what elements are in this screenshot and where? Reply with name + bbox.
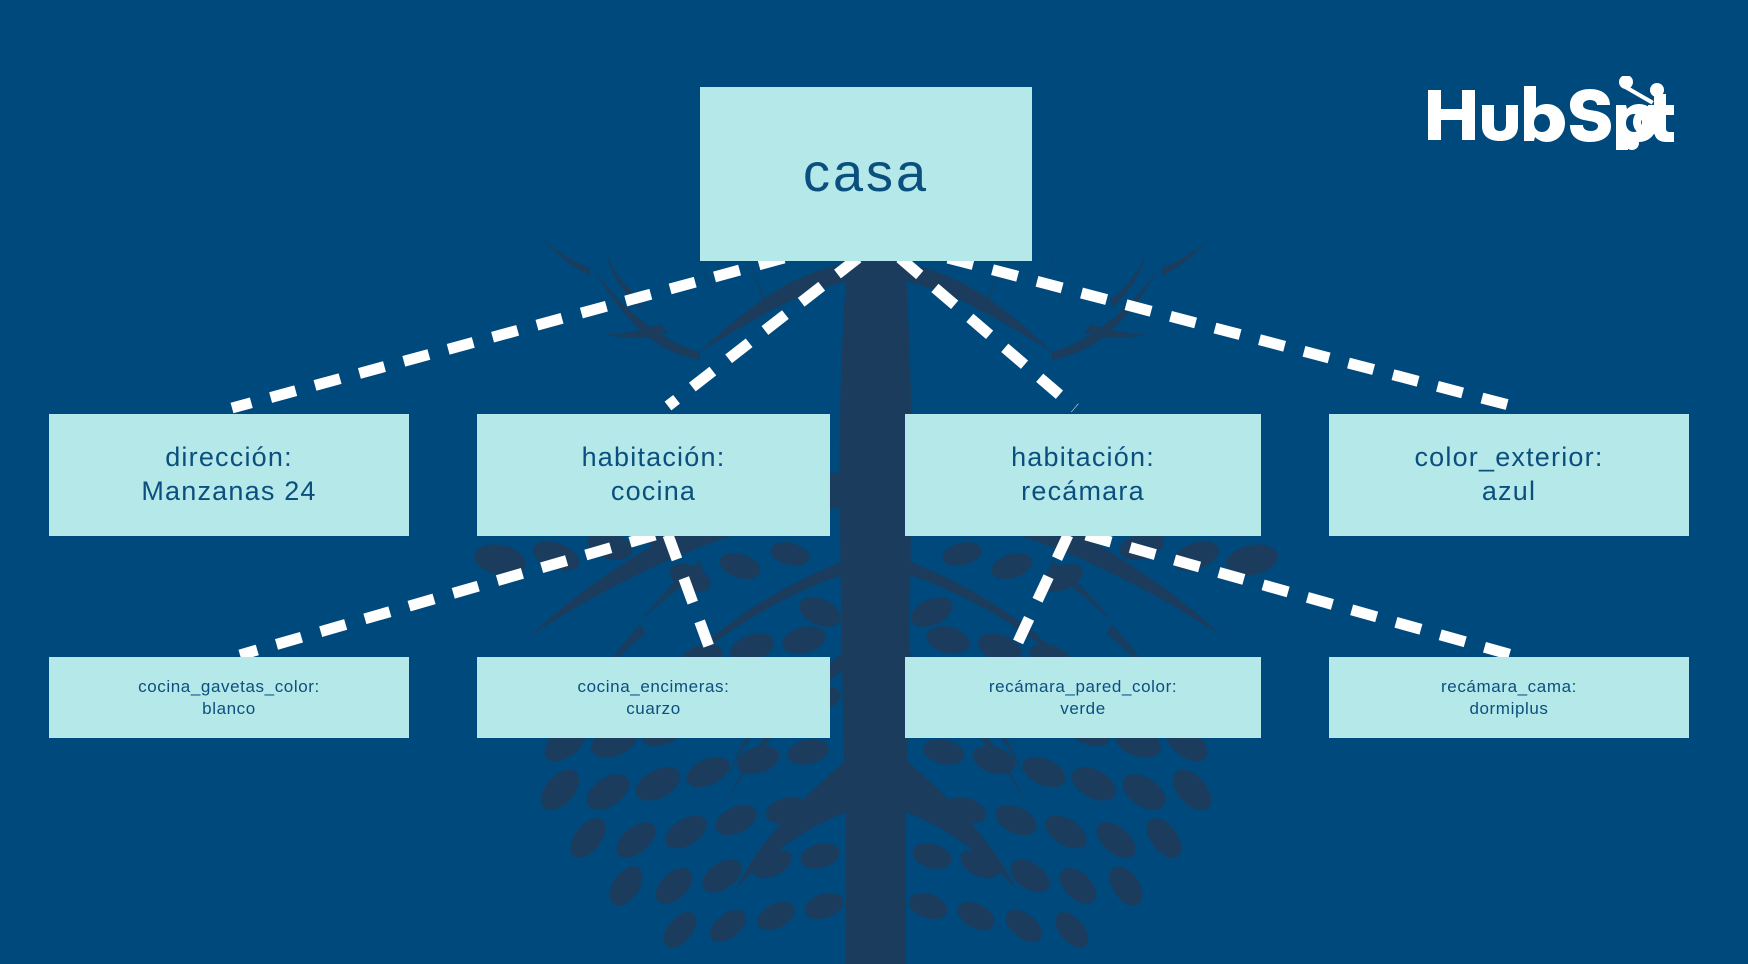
node-recamara-cama-line2: dormiplus <box>1469 698 1548 719</box>
edge-casa-color-exterior <box>948 258 1520 408</box>
node-direccion-line2: Manzanas 24 <box>141 475 316 509</box>
edge-recamara-cama <box>1086 535 1512 655</box>
node-habitacion-cocina-line2: cocina <box>611 475 696 509</box>
node-cocina-gavetas-color[interactable]: cocina_gavetas_color: blanco <box>49 657 409 738</box>
diagram-canvas: casa dirección: Manzanas 24 habitación: … <box>0 0 1748 964</box>
node-recamara-pared-color-line1: recámara_pared_color: <box>989 676 1177 697</box>
node-color-exterior[interactable]: color_exterior: azul <box>1329 414 1689 536</box>
node-habitacion-recamara-line1: habitación: <box>1011 441 1155 475</box>
edge-casa-cocina <box>668 258 858 406</box>
node-recamara-cama-line1: recámara_cama: <box>1441 676 1577 697</box>
edge-cocina-gavetas <box>240 535 655 655</box>
node-habitacion-cocina-line1: habitación: <box>582 441 726 475</box>
edge-casa-recamara <box>900 258 1075 408</box>
node-color-exterior-line1: color_exterior: <box>1414 441 1603 475</box>
edge-casa-direccion <box>232 258 784 408</box>
node-cocina-encimeras[interactable]: cocina_encimeras: cuarzo <box>477 657 830 738</box>
node-habitacion-recamara-line2: recámara <box>1021 475 1145 509</box>
hubspot-logo[interactable] <box>1426 76 1674 150</box>
edge-cocina-encimeras <box>668 535 712 655</box>
node-cocina-encimeras-line1: cocina_encimeras: <box>578 676 730 697</box>
edge-recamara-pared <box>1012 535 1068 655</box>
node-casa-label: casa <box>803 140 929 208</box>
node-cocina-gavetas-color-line2: blanco <box>202 698 256 719</box>
node-recamara-pared-color-line2: verde <box>1060 698 1106 719</box>
node-habitacion-recamara[interactable]: habitación: recámara <box>905 414 1261 536</box>
node-casa[interactable]: casa <box>700 87 1032 261</box>
node-color-exterior-line2: azul <box>1482 475 1536 509</box>
node-cocina-gavetas-color-line1: cocina_gavetas_color: <box>138 676 320 697</box>
node-cocina-encimeras-line2: cuarzo <box>626 698 681 719</box>
node-direccion-line1: dirección: <box>165 441 293 475</box>
node-recamara-cama[interactable]: recámara_cama: dormiplus <box>1329 657 1689 738</box>
node-direccion[interactable]: dirección: Manzanas 24 <box>49 414 409 536</box>
node-recamara-pared-color[interactable]: recámara_pared_color: verde <box>905 657 1261 738</box>
node-habitacion-cocina[interactable]: habitación: cocina <box>477 414 830 536</box>
